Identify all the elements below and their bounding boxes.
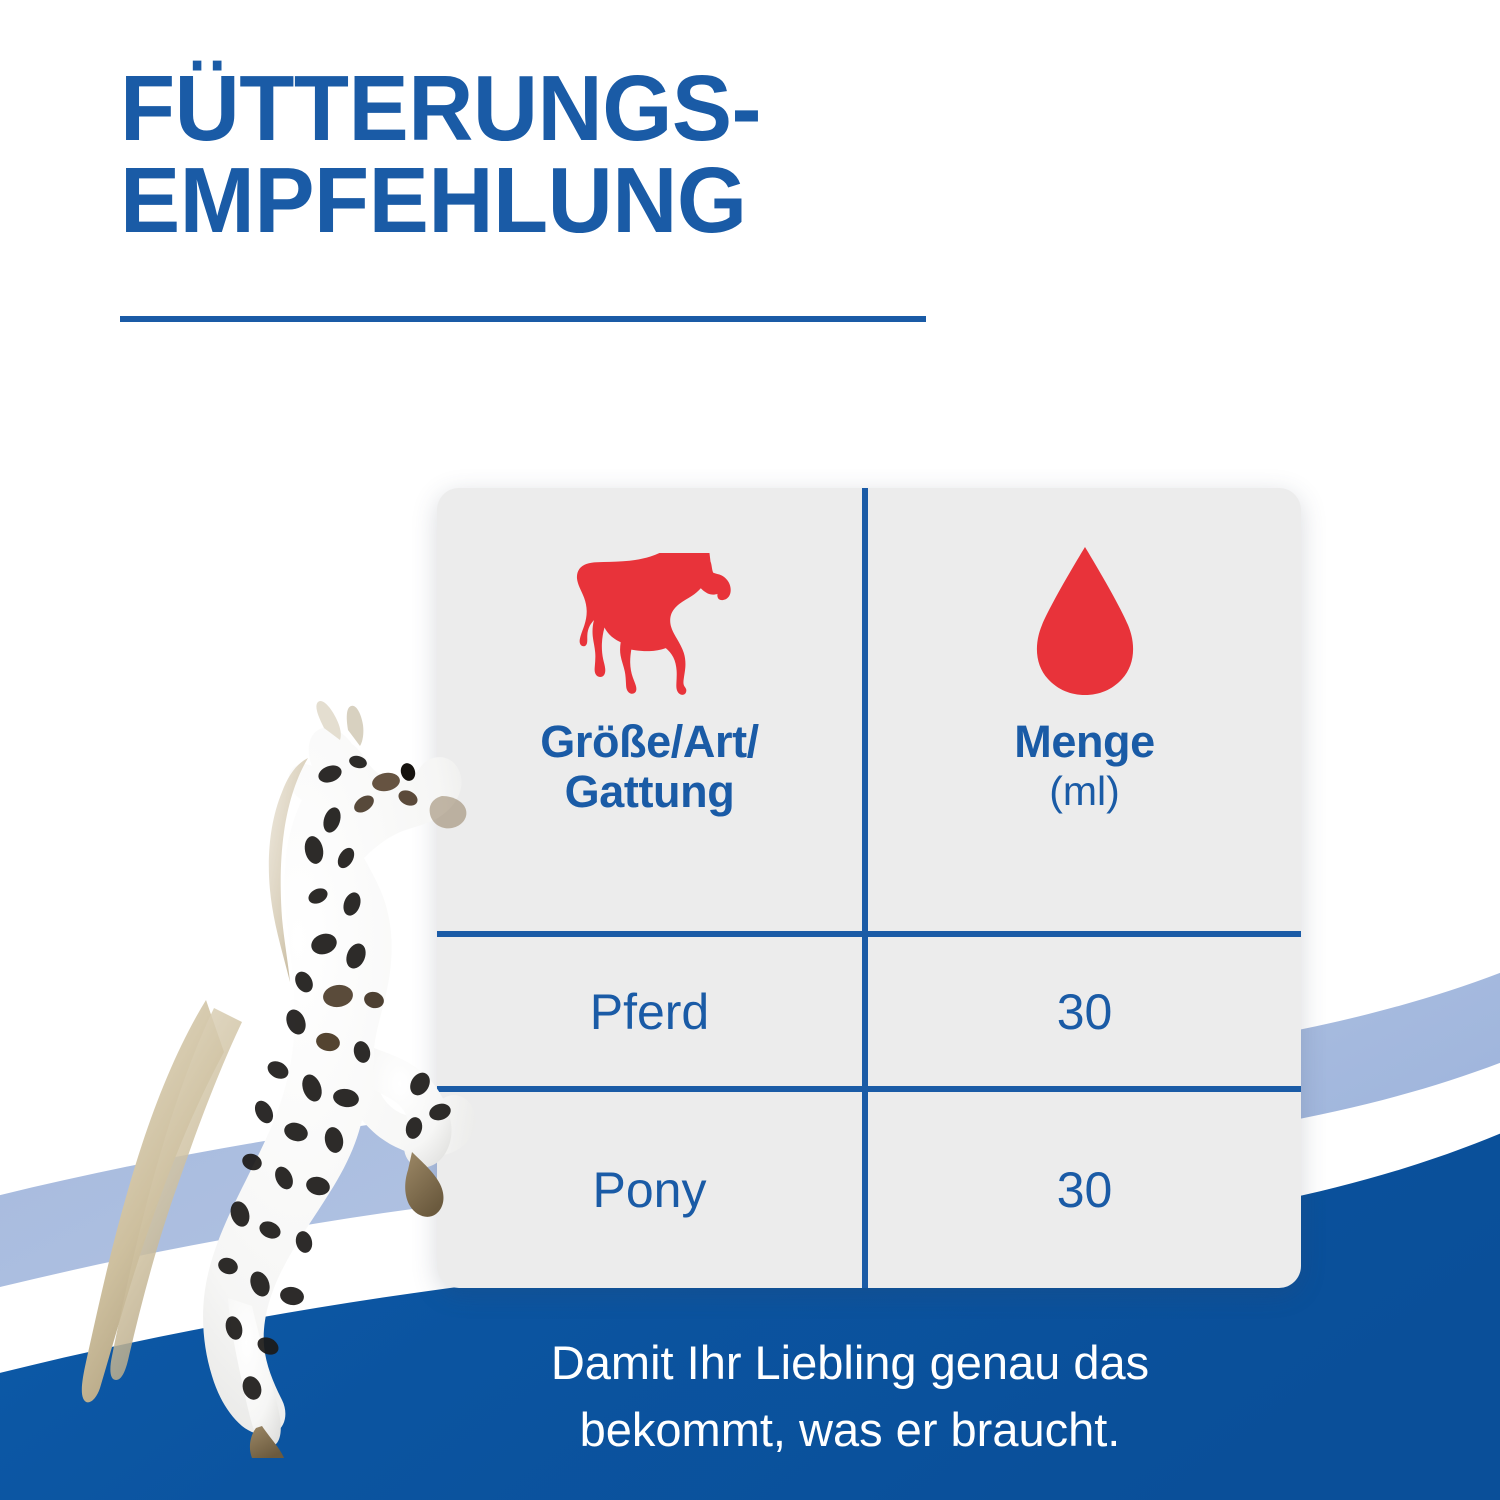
horse-body bbox=[203, 728, 475, 1435]
table-row: Pferd bbox=[437, 937, 862, 1086]
horse-spots bbox=[216, 754, 453, 1402]
droplet-icon-wrap bbox=[868, 488, 1301, 703]
horse-ear-left bbox=[316, 701, 340, 740]
column-header-amount-unit: (ml) bbox=[868, 769, 1301, 814]
table-row: Pony bbox=[437, 1092, 862, 1288]
cell-amount: 30 bbox=[1057, 1161, 1113, 1219]
horse-mane bbox=[269, 758, 308, 982]
caption-text: Damit Ihr Liebling genau das bekommt, wa… bbox=[400, 1330, 1300, 1463]
horse-tail-strand bbox=[110, 1008, 242, 1380]
column-header-amount-label: Menge bbox=[868, 717, 1301, 767]
horse-eye bbox=[399, 761, 418, 782]
table-row: 30 bbox=[868, 1092, 1301, 1288]
page-title: FÜTTERUNGS- EMPFEHLUNG bbox=[120, 62, 993, 246]
horse-icon-wrap bbox=[437, 488, 862, 703]
column-header-species: Größe/Art/ Gattung bbox=[437, 488, 862, 931]
horse-hindleg-rear bbox=[228, 1298, 281, 1447]
title-divider-rule bbox=[120, 316, 926, 322]
cell-species: Pferd bbox=[590, 983, 710, 1041]
cell-species: Pony bbox=[593, 1161, 707, 1219]
horse-icon bbox=[560, 553, 740, 703]
table-row: 30 bbox=[868, 937, 1301, 1086]
horse-tail bbox=[82, 1000, 224, 1402]
feeding-table-card: Größe/Art/ Gattung Menge (ml) Pferd 30 P… bbox=[437, 488, 1301, 1288]
column-header-amount: Menge (ml) bbox=[868, 488, 1301, 931]
droplet-icon bbox=[1026, 543, 1144, 703]
cell-amount: 30 bbox=[1057, 983, 1113, 1041]
horse-ear-right bbox=[347, 706, 364, 746]
horse-hoof-rear bbox=[250, 1426, 284, 1458]
header-block: FÜTTERUNGS- EMPFEHLUNG bbox=[120, 62, 1020, 246]
poster-canvas: FÜTTERUNGS- EMPFEHLUNG Größe/Art/ Gattun… bbox=[0, 0, 1500, 1500]
column-header-species-label: Größe/Art/ Gattung bbox=[437, 717, 862, 818]
